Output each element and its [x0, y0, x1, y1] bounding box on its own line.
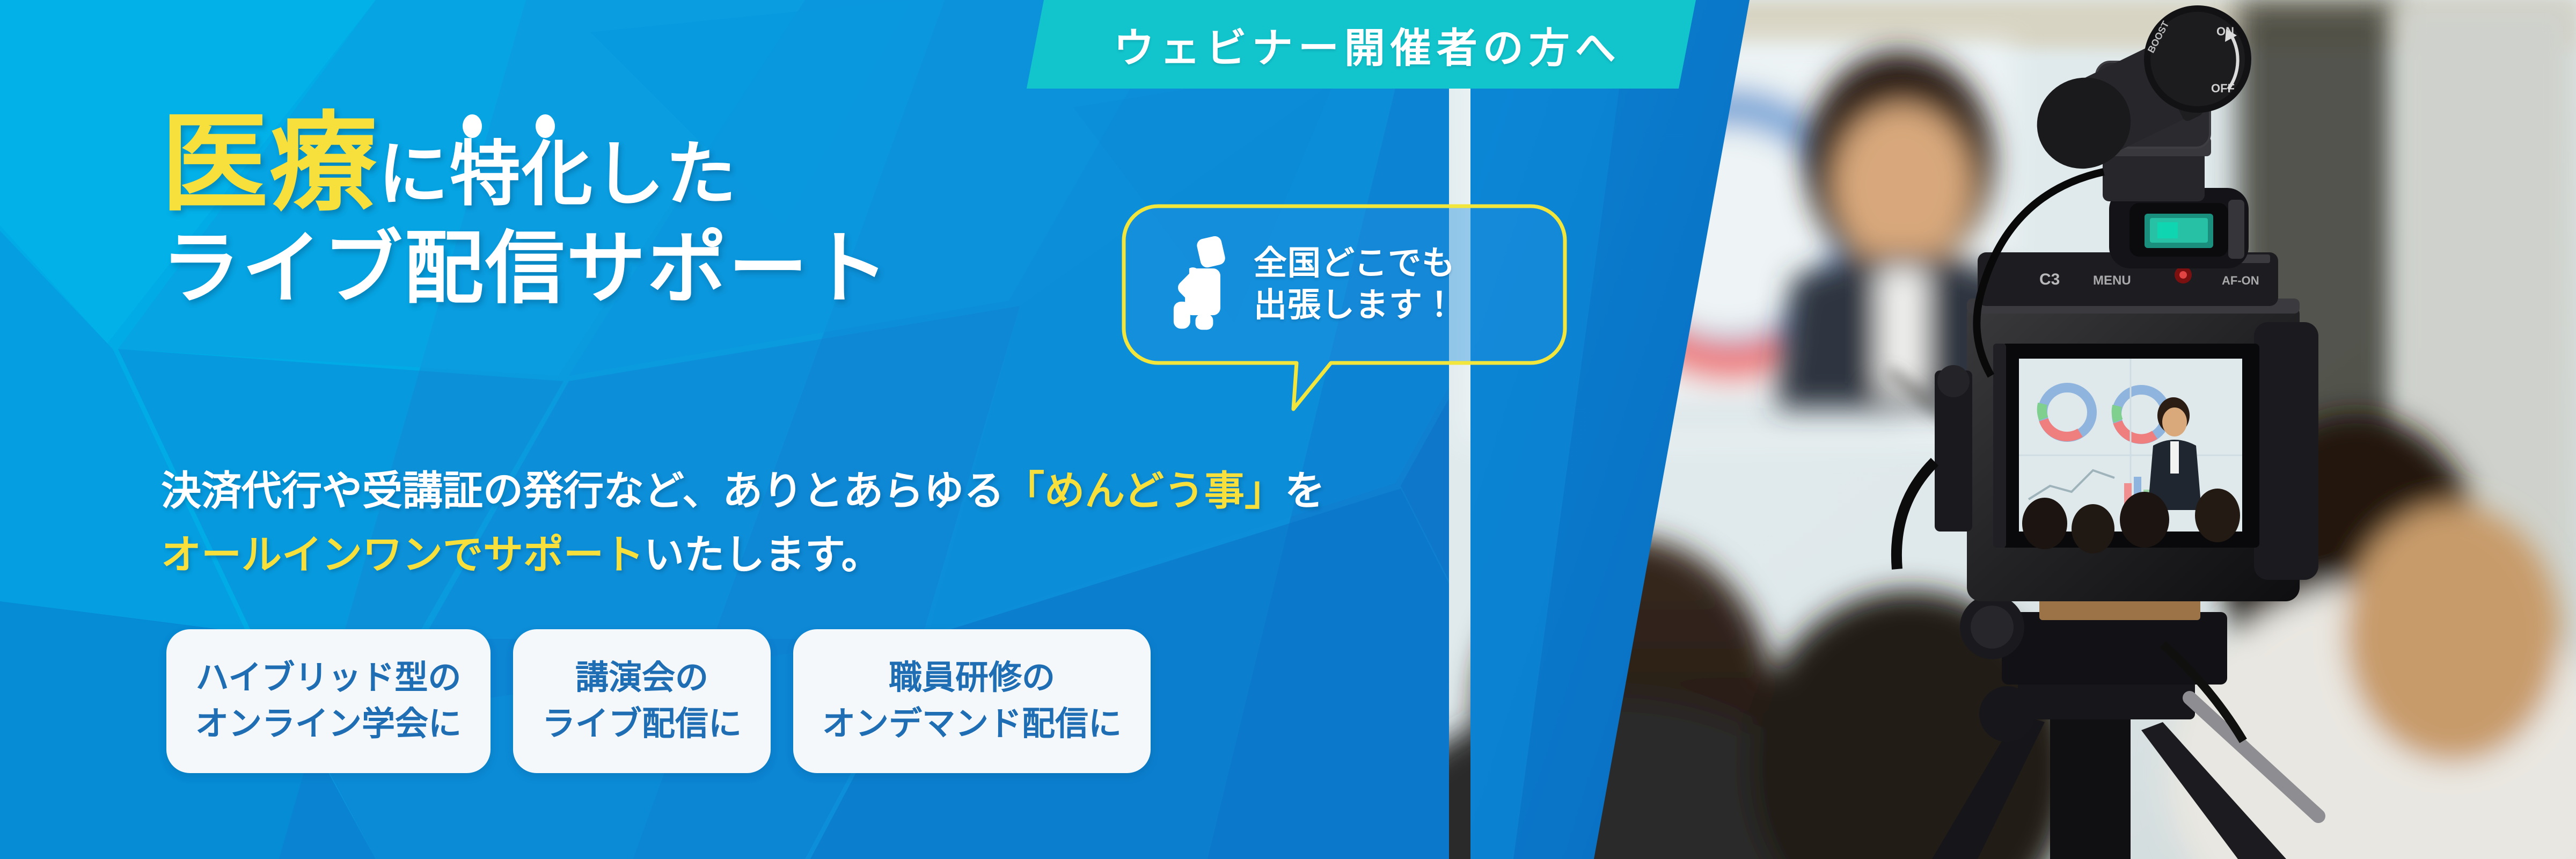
bubble-line-2: 出張します！: [1254, 285, 1457, 326]
japan-map-icon: [1172, 236, 1235, 333]
use-case-pill-training[interactable]: 職員研修の オンデマンド配信に: [793, 629, 1151, 773]
lead-line-2-text: いたします。: [644, 532, 882, 577]
lead-line-1-particle: を: [1285, 468, 1325, 513]
nationwide-callout-bubble: 全国どこでも 出張します！: [1116, 199, 1572, 370]
pill-line-1: 職員研修の: [889, 655, 1055, 701]
ribbon-label: ウェビナー開催者の方へ: [1101, 15, 1621, 74]
use-case-pill-hybrid[interactable]: ハイブリッド型の オンライン学会に: [166, 629, 491, 773]
svg-text:MENU: MENU: [2093, 273, 2131, 288]
use-case-list: ハイブリッド型の オンライン学会に 講演会の ライブ配信に 職員研修の オンデマ…: [166, 629, 1151, 773]
bubble-line-1: 全国どこでも: [1254, 243, 1457, 285]
lead-line-2: オールインワンでサポートいたします。: [161, 523, 1325, 587]
lead-accent-allinone: オールインワンでサポート: [161, 532, 644, 577]
headline-suffix-shita: した: [594, 139, 737, 217]
pill-line-1: 講演会の: [575, 655, 708, 701]
svg-text:C3: C3: [2039, 271, 2060, 288]
headline-line-1: 医療 に 特化 した: [161, 110, 1234, 217]
headline-particle-ni: に: [378, 139, 450, 217]
lead-accent-mendou: 「めんどう事」: [1004, 468, 1285, 513]
lead-line-1-text: 決済代行や受講証の発行など、ありとあらゆる: [161, 468, 1004, 513]
lead-paragraph: 決済代行や受講証の発行など、ありとあらゆる「めんどう事」を オールインワンでサポ…: [161, 459, 1325, 586]
headline-line-2: ライブ配信サポート: [161, 229, 1234, 309]
audience-ribbon: ウェビナー開催者の方へ: [1027, 0, 1696, 89]
svg-text:AF-ON: AF-ON: [2222, 274, 2259, 287]
pill-line-2: ライブ配信に: [542, 701, 742, 747]
use-case-pill-lecture[interactable]: 講演会の ライブ配信に: [513, 629, 771, 773]
pill-line-2: オンデマンド配信に: [822, 701, 1122, 747]
pill-line-1: ハイブリッド型の: [196, 655, 462, 701]
headline-dotted-word: 特化: [450, 139, 594, 217]
lead-line-1: 決済代行や受講証の発行など、ありとあらゆる「めんどう事」を: [161, 459, 1325, 523]
hero-banner: C3 MENU AF-ON: [0, 0, 2576, 859]
seminar-photo: C3 MENU AF-ON: [1449, 0, 2576, 859]
bubble-text-block: 全国どこでも 出張します！: [1254, 243, 1457, 326]
headline-emphasis: 医療: [161, 110, 378, 217]
pill-line-2: オンライン学会に: [195, 701, 462, 747]
page-title: 医療 に 特化 した ライブ配信サポート: [161, 110, 1234, 309]
